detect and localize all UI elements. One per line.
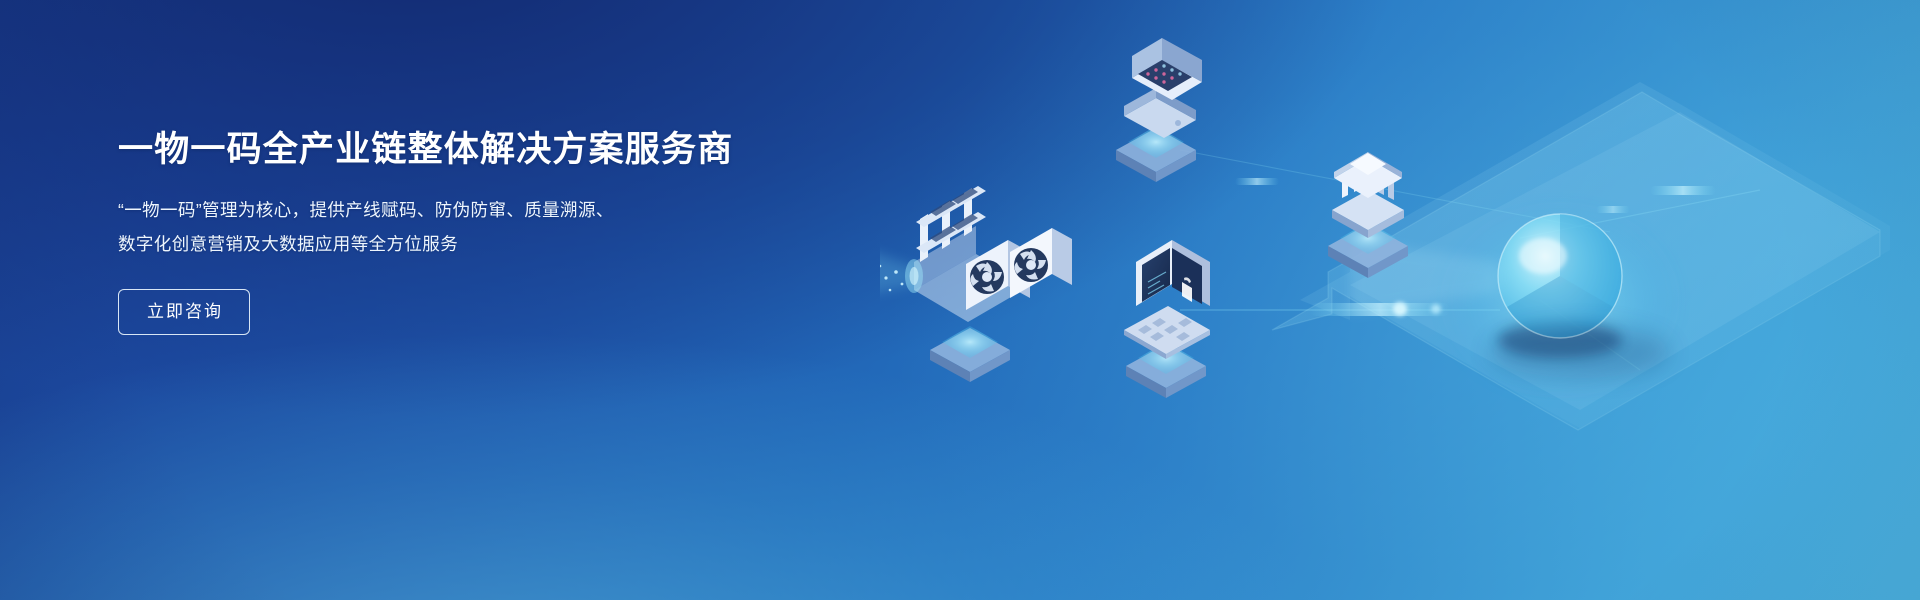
page-title: 一物一码全产业链整体解决方案服务商 [118,128,738,173]
hero-copy-block: 一物一码全产业链整体解决方案服务商 “一物一码”管理为核心，提供产线赋码、防伪防… [118,128,738,335]
cta-container: 立即咨询 [118,261,738,335]
node-pad [930,326,1010,382]
particle-stream [880,248,923,296]
hero-subtitle-line-2: 数字化创意营销及大数据应用等全方位服务 [118,227,738,261]
consult-now-button[interactable]: 立即咨询 [118,289,250,335]
node-pad [1116,126,1196,182]
server-fan-rack-icon [880,186,1072,382]
hero-banner: 一物一码全产业链整体解决方案服务商 “一物一码”管理为核心，提供产线赋码、防伪防… [0,0,1920,600]
pos-terminal-icon [1116,38,1202,182]
hero-illustration [880,0,1920,600]
hero-subtitle: “一物一码”管理为核心，提供产线赋码、防伪防窜、质量溯源、 数字化创意营销及大数… [118,173,738,261]
laptop-lock-icon [1124,240,1210,398]
bank-building-icon [1328,152,1408,278]
hero-subtitle-line-1: “一物一码”管理为核心，提供产线赋码、防伪防窜、质量溯源、 [118,193,738,227]
